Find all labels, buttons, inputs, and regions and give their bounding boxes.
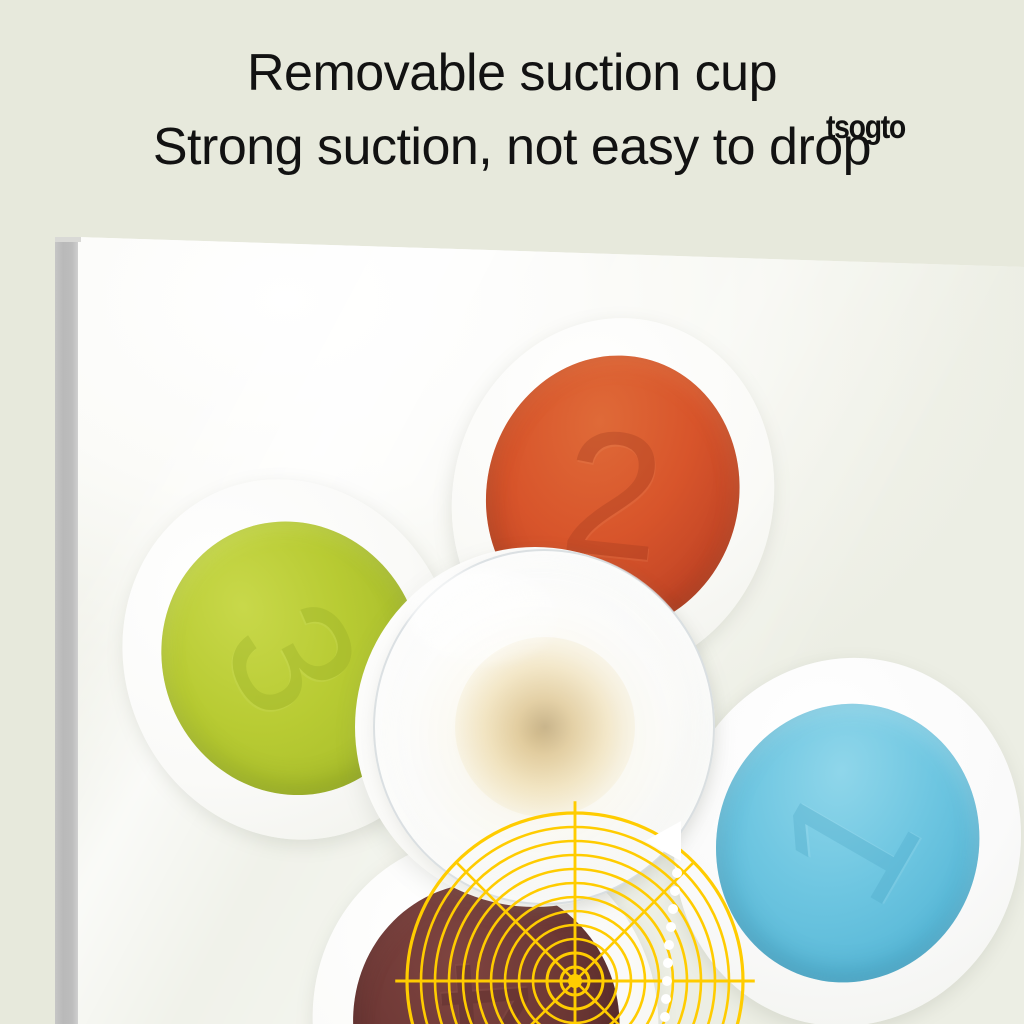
suction-cup-gloss — [409, 569, 559, 665]
product-marketing-image: Removable suction cup Strong suction, no… — [0, 0, 1024, 1024]
headline-line-1: Removable suction cup — [0, 42, 1024, 104]
watermark-text: tsogto — [826, 108, 905, 146]
petal-brown-number: 4 — [432, 921, 541, 1024]
suction-cup — [373, 549, 715, 905]
petal-blue-disc: 1 — [683, 672, 1012, 1013]
petal-blue-number: 1 — [736, 750, 960, 936]
spinner-toy: 2 3 1 4 — [55, 237, 1024, 1024]
product-photo: 2 3 1 4 — [55, 237, 1024, 1024]
